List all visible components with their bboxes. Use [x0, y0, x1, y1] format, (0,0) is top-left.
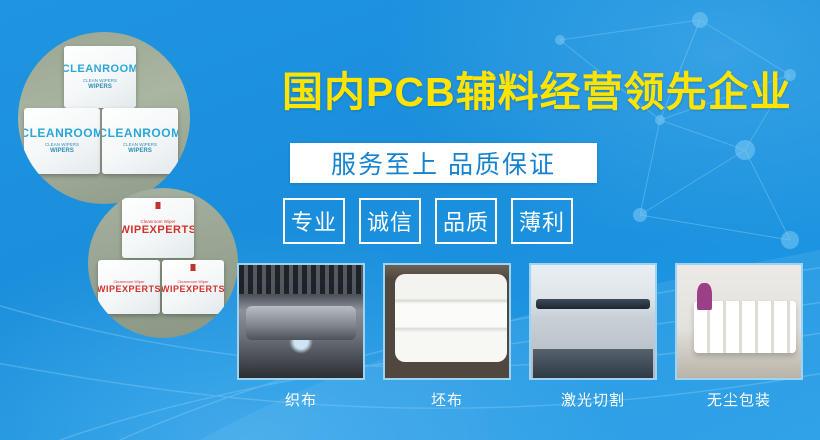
- gallery-caption: 坯布: [383, 389, 511, 410]
- pack-seal-dot: [191, 264, 196, 271]
- pack-brand-label: WIPEXPERTS: [122, 225, 194, 236]
- promo-banner: CLEANROOM CLEAN WIPERS WIPERS CLEANROOM …: [0, 0, 820, 440]
- feature-tag: 专业: [283, 198, 345, 244]
- pack-sub2-label: WIPERS: [50, 148, 74, 155]
- cleanroom-pack: CLEANROOM CLEAN WIPERS WIPERS: [64, 46, 136, 108]
- gallery-photo-greige-fabric-rolls: [383, 263, 511, 380]
- pack-brand-label: CLEANROOM: [64, 64, 136, 75]
- photo-illustration: [531, 265, 655, 378]
- wipexperts-pack: Cleanroom Wiper WIPEXPERTS: [162, 260, 224, 314]
- photo-illustration: [385, 265, 509, 378]
- gallery-caption: 激光切割: [529, 389, 657, 410]
- product-photo-wipexperts: Cleanroom Wiper WIPEXPERTS Cleanroom Wip…: [88, 188, 238, 338]
- gallery-photo-knitting-machine: [237, 263, 365, 380]
- wipexperts-pack: Cleanroom Wiper WIPEXPERTS: [122, 198, 194, 258]
- product-photo-cleanroom: CLEANROOM CLEAN WIPERS WIPERS CLEANROOM …: [18, 32, 190, 204]
- feature-tag-label: 品质: [443, 205, 489, 237]
- gallery-photo-laser-cutting-machine: [529, 263, 657, 380]
- gallery-caption: 织布: [237, 389, 365, 410]
- pack-seal-dot: [156, 202, 161, 209]
- gallery-item: 无尘包装: [675, 263, 803, 410]
- pack-brand-label: CLEANROOM: [102, 127, 178, 139]
- subtitle-text: 服务至上 品质保证: [331, 145, 556, 181]
- pack-sub2-label: WIPERS: [128, 148, 152, 155]
- gallery-item: 坯布: [383, 263, 511, 410]
- gallery-photo-cleanroom-packaging: [675, 263, 803, 380]
- gallery-item: 织布: [237, 263, 365, 410]
- feature-tag-label: 薄利: [519, 205, 565, 237]
- pack-sub2-label: WIPERS: [88, 84, 112, 91]
- feature-tag: 品质: [435, 198, 497, 244]
- feature-tag: 诚信: [359, 198, 421, 244]
- photo-illustration: [677, 265, 801, 378]
- subtitle-bar: 服务至上 品质保证: [290, 143, 597, 183]
- feature-tag-label: 诚信: [367, 205, 413, 237]
- process-gallery: 织布 坯布 激光切割 无尘包装: [237, 263, 803, 410]
- photo-illustration: [239, 265, 363, 378]
- feature-tag-label: 专业: [291, 205, 337, 237]
- banner-headline: 国内PCB辅料经营领先企业: [282, 72, 792, 113]
- gallery-caption: 无尘包装: [675, 389, 803, 410]
- feature-tag: 薄利: [511, 198, 573, 244]
- cleanroom-pack: CLEANROOM CLEAN WIPERS WIPERS: [24, 108, 100, 174]
- pack-brand-label: WIPEXPERTS: [98, 285, 160, 294]
- cleanroom-pack: CLEANROOM CLEAN WIPERS WIPERS: [102, 108, 178, 174]
- gallery-item: 激光切割: [529, 263, 657, 410]
- feature-tag-list: 专业 诚信 品质 薄利: [283, 198, 573, 244]
- pack-brand-label: CLEANROOM: [24, 127, 100, 139]
- pack-brand-label: WIPEXPERTS: [162, 285, 224, 294]
- wipexperts-pack: Cleanroom Wiper WIPEXPERTS: [98, 260, 160, 314]
